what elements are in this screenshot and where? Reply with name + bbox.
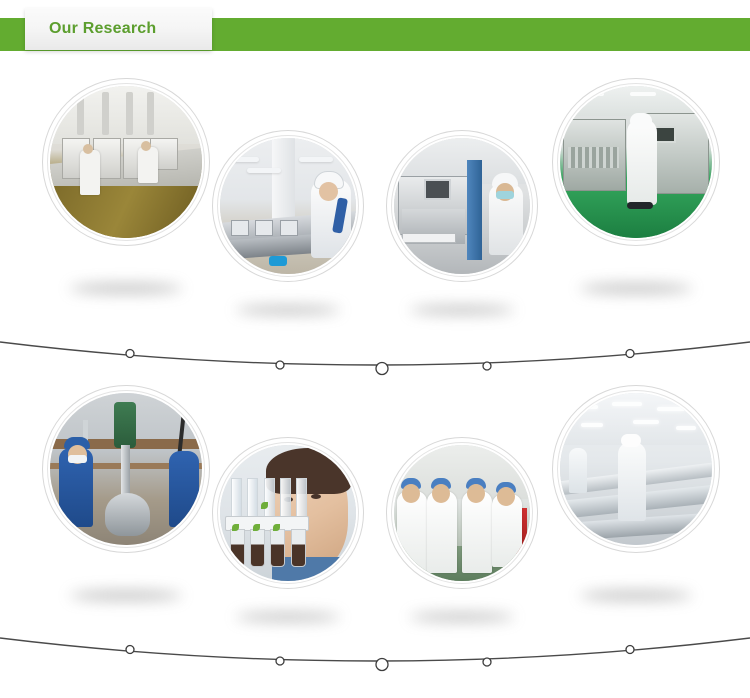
scene-scientist-seedlings [220,445,356,581]
timeline-node [276,657,284,665]
photo-3-blister-machine [394,138,530,274]
scene-cleanroom-filling [560,86,712,238]
photo-frame [386,437,538,589]
timeline-node [626,350,634,358]
timeline-node [126,646,134,654]
photo-shadow [236,612,340,622]
photo-shadow [580,590,692,601]
research-row-bottom [0,385,750,615]
photo-1-lab-instruments [50,86,202,238]
photo-4-cleanroom-filling [560,86,712,238]
photo-5-reactor-vessel [50,393,202,545]
page-header: Our Research [0,0,750,60]
timeline-node-center [376,363,388,375]
photo-8-cleanroom-hall [560,393,712,545]
photo-shadow [410,305,514,315]
photo-shadow [70,590,182,601]
scene-facility-tour-group [394,445,530,581]
photo-frame [212,437,364,589]
page-title: Our Research [49,20,156,38]
photo-frame [212,130,364,282]
timeline-node [483,362,491,370]
timeline-curve [0,342,750,365]
photo-frame [42,78,210,246]
timeline-curve [0,638,750,661]
photo-frame [552,78,720,246]
photo-shadow [410,612,514,622]
photo-2-packing-line [220,138,356,274]
photo-6-scientist-test-tubes [220,445,356,581]
photo-7-facility-tour [394,445,530,581]
timeline-node [276,361,284,369]
photo-shadow [236,305,340,315]
photo-frame [386,130,538,282]
timeline-node-center [376,659,388,671]
scene-blister-packaging [394,138,530,274]
research-row-top [0,78,750,308]
timeline-node [626,646,634,654]
scene-cleanroom-hall [560,393,712,545]
photo-shadow [580,283,692,294]
timeline-top [0,336,750,382]
photo-shadow [70,283,182,294]
timeline-node [483,658,491,666]
photo-frame [552,385,720,553]
timeline-bottom [0,632,750,678]
section-tab[interactable]: Our Research [25,8,212,50]
scene-packing-line [220,138,356,274]
scene-reactor-vessel [50,393,202,545]
photo-frame [42,385,210,553]
scene-analytical-lab [50,86,202,238]
timeline-node [126,350,134,358]
